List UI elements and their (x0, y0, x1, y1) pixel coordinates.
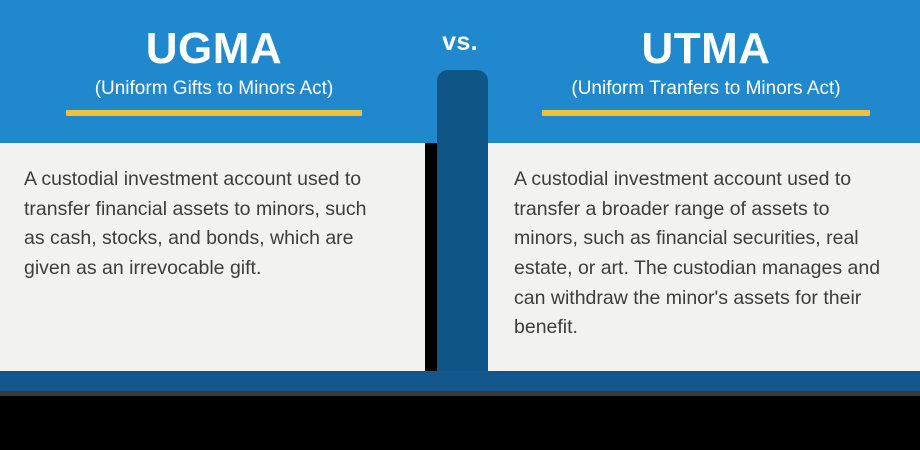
center-divider-column (437, 70, 488, 371)
left-column-subtitle: (Uniform Gifts to Minors Act) (0, 72, 428, 101)
description-panel-right: A custodial investment account used to t… (488, 143, 920, 371)
right-description-text: A custodial investment account used to t… (514, 165, 890, 343)
right-column-subtitle: (Uniform Tranfers to Minors Act) (492, 72, 920, 101)
comparison-column-header-left: UGMA (Uniform Gifts to Minors Act) (0, 0, 428, 143)
footer-accent-band (0, 371, 920, 391)
footer-area: Western & Southern Financial Group (0, 396, 920, 450)
infographic-canvas: UGMA (Uniform Gifts to Minors Act) vs. U… (0, 0, 920, 450)
versus-label: vs. (428, 28, 492, 57)
left-description-text: A custodial investment account used to t… (24, 165, 391, 284)
description-panel-left: A custodial investment account used to t… (0, 143, 425, 371)
comparison-column-header-right: UTMA (Uniform Tranfers to Minors Act) (492, 0, 920, 143)
right-column-title: UTMA (492, 0, 920, 72)
left-accent-underline (66, 110, 362, 116)
right-accent-underline (542, 110, 870, 116)
left-column-title: UGMA (0, 0, 428, 72)
